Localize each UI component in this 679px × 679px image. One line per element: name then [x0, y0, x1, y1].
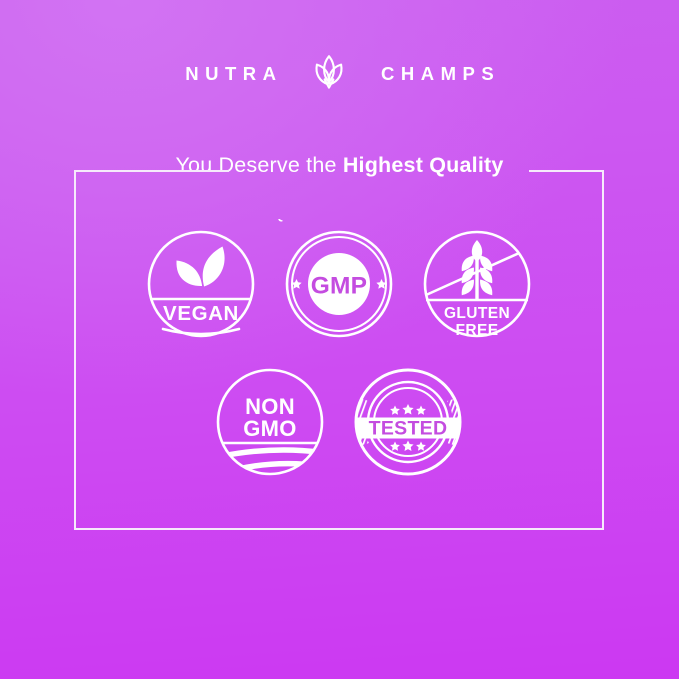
badge-row-top: VEGAN CONSISTENT QUALITY — [136, 219, 542, 349]
lotus-logo-icon — [307, 52, 351, 96]
lab-stars-bottom-icon — [390, 441, 426, 452]
badge-gluten-free: GLUTEN FREE — [412, 219, 542, 349]
gluten-free-badge-icon: GLUTEN FREE — [412, 219, 542, 349]
non-gmo-badge-icon: NON GMO — [205, 357, 335, 487]
lab-center-label: TESTED — [369, 418, 448, 440]
gluten-free-label-line1: GLUTEN — [444, 305, 510, 322]
lab-stars-top-icon — [390, 404, 426, 415]
badge-vegan: VEGAN — [136, 219, 266, 349]
brand-lockup: NUTRA CHAMPS — [0, 52, 679, 96]
badge-row-bottom: NON GMO — [205, 357, 473, 487]
poster-canvas: NUTRA CHAMPS You Deserve the Highest Qua… — [0, 0, 679, 679]
gmp-arc-bottom-label: QUALITY — [274, 219, 337, 222]
badge-gmp: CONSISTENT QUALITY GMP — [274, 219, 404, 349]
brand-word-nutra: NUTRA — [179, 65, 283, 84]
badge-non-gmo: NON GMO — [205, 357, 335, 487]
lab-arc-bottom-label: VERIFIED — [343, 357, 425, 360]
non-gmo-label-line2: GMO — [243, 416, 296, 441]
wheat-stalk-icon — [462, 240, 493, 299]
vegan-label: VEGAN — [163, 302, 239, 325]
gmp-center-label: GMP — [311, 273, 367, 300]
badge-lab-tested: LAB VERIFIED TESTED — [343, 357, 473, 487]
gluten-free-label-line2: FREE — [456, 322, 499, 339]
gmp-badge-icon: CONSISTENT QUALITY GMP — [274, 219, 404, 349]
brand-word-champs: CHAMPS — [375, 65, 501, 84]
lab-tested-badge-icon: LAB VERIFIED TESTED — [343, 357, 473, 487]
badge-grid: VEGAN CONSISTENT QUALITY — [74, 170, 604, 530]
vegan-badge-icon: VEGAN — [136, 219, 266, 349]
